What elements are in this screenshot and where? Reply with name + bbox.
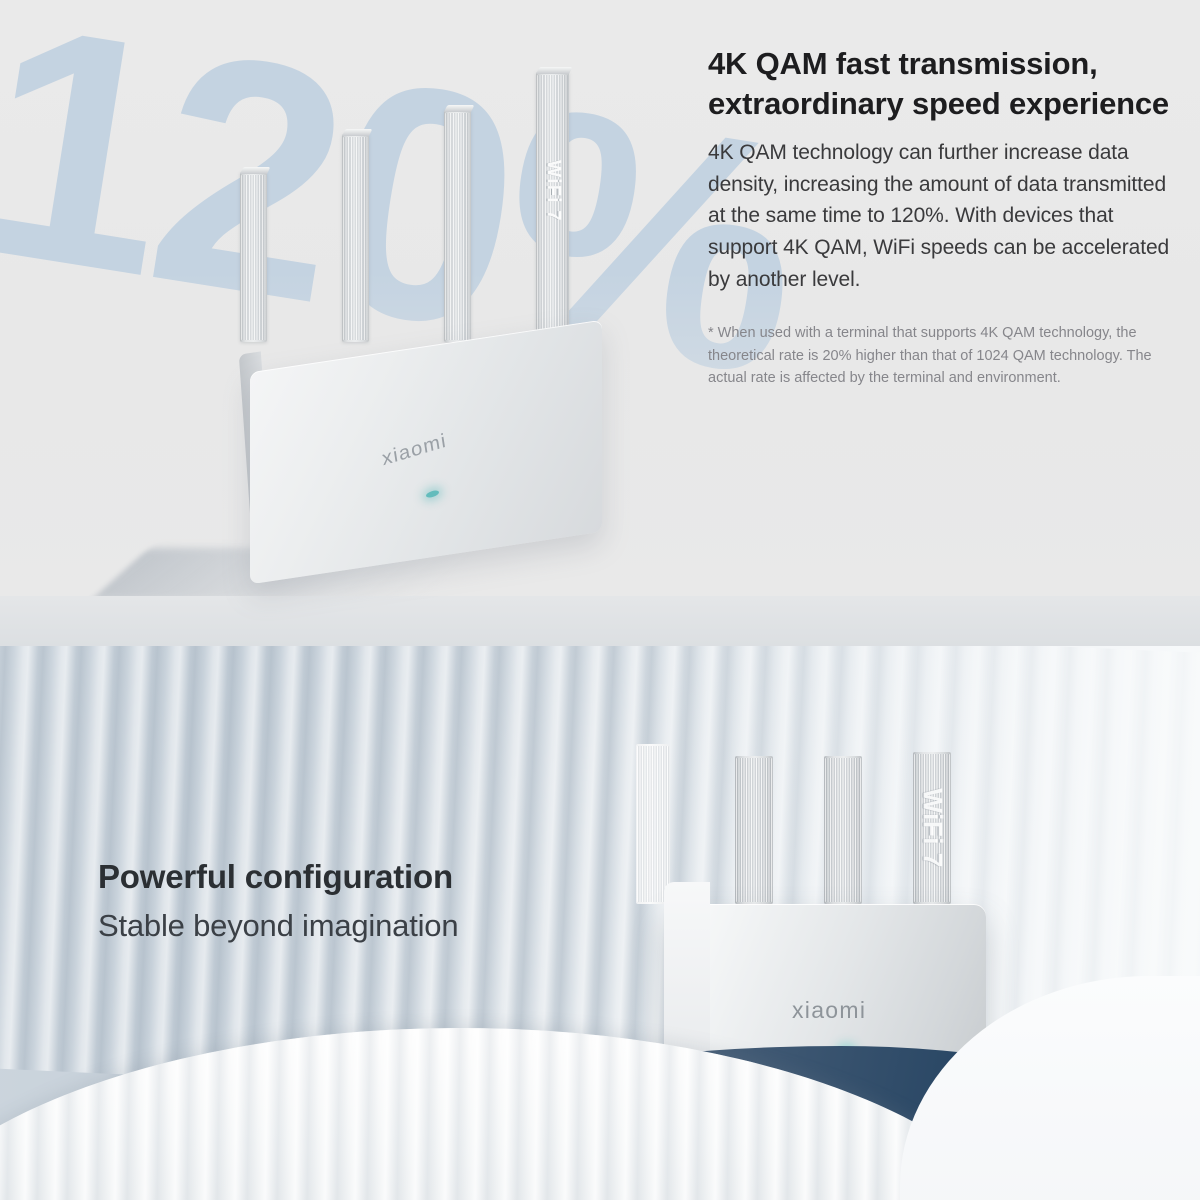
lower-subhead: Stable beyond imagination bbox=[98, 908, 658, 944]
upper-heading: 4K QAM fast transmission, extraordinary … bbox=[708, 44, 1176, 125]
router-device-upper: WiFi 7 xiaomi bbox=[232, 140, 592, 610]
lower-text-block: Powerful configuration Stable beyond ima… bbox=[98, 858, 658, 944]
upper-footnote: * When used with a terminal that support… bbox=[708, 322, 1176, 389]
antenna-4-lower-icon: WiFi 7 bbox=[913, 752, 951, 904]
floor-strip-upper bbox=[0, 596, 1200, 646]
upper-body-paragraph: 4K QAM technology can further increase d… bbox=[708, 137, 1176, 297]
antenna-4-icon: WiFi 7 bbox=[536, 72, 569, 342]
antenna-2-lower-icon bbox=[735, 756, 773, 904]
upper-text-column: 4K QAM fast transmission, extraordinary … bbox=[708, 44, 1176, 390]
lower-headline: Powerful configuration bbox=[98, 858, 658, 896]
antenna-3-icon bbox=[444, 110, 471, 342]
wifi7-badge-lower: WiFi 7 bbox=[917, 788, 948, 867]
wifi7-badge-upper: WiFi 7 bbox=[542, 160, 563, 222]
antenna-3-lower-icon bbox=[824, 756, 862, 904]
lower-panel: WiFi 7 xiaomi Powerful configuration Sta… bbox=[0, 646, 1200, 1200]
product-page: 120% WiFi 7 xiaomi 4K QAM fast transmiss… bbox=[0, 0, 1200, 1200]
white-curved-fluted-surface bbox=[0, 1028, 1050, 1200]
xiaomi-logo-lower: xiaomi bbox=[792, 997, 866, 1024]
antenna-1-icon bbox=[240, 172, 267, 342]
upper-panel: 120% WiFi 7 xiaomi 4K QAM fast transmiss… bbox=[0, 0, 1200, 646]
antenna-2-icon bbox=[342, 134, 369, 342]
